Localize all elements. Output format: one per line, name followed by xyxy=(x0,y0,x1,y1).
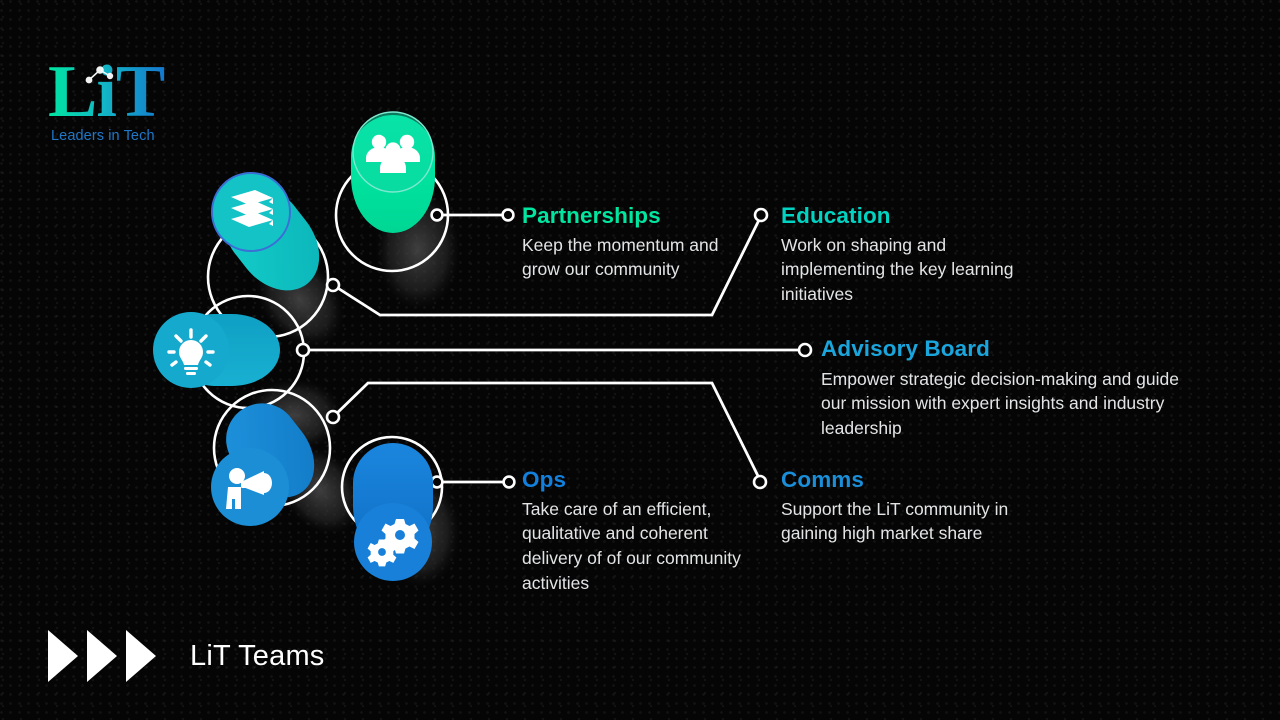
node-comms-desc: Support the LiT community in gaining hig… xyxy=(781,497,1011,546)
node-partnerships-desc: Keep the momentum and grow our community xyxy=(522,233,752,282)
play-arrow-icon-1 xyxy=(48,630,78,682)
node-education-origin xyxy=(327,279,339,291)
node-advisory-title: Advisory Board xyxy=(821,337,1191,362)
node-ops-desc: Take care of an efficient, qualitative a… xyxy=(522,497,772,596)
node-ops-title: Ops xyxy=(522,468,772,493)
pin-ops[interactable] xyxy=(353,443,433,581)
footer: LiT Teams xyxy=(48,630,325,682)
slide-canvas: LiT Leaders in Tech xyxy=(0,0,1280,720)
node-advisory-origin xyxy=(297,344,309,356)
node-partnerships-title: Partnerships xyxy=(522,204,752,229)
node-education-text: Education Work on shaping and implementi… xyxy=(781,204,1021,307)
node-ops-origin xyxy=(432,477,443,488)
node-advisory-text: Advisory Board Empower strategic decisio… xyxy=(821,337,1191,441)
node-education-title: Education xyxy=(781,204,1021,229)
node-advisory-desc: Empower strategic decision-making and gu… xyxy=(821,367,1191,441)
node-partnerships-origin xyxy=(432,210,443,221)
node-partnerships-label xyxy=(503,210,514,221)
play-arrow-icon-2 xyxy=(87,630,117,682)
node-comms-origin xyxy=(327,411,339,423)
node-education-label xyxy=(755,209,767,221)
node-comms-title: Comms xyxy=(781,468,1011,493)
books-stack-icon xyxy=(231,190,273,227)
play-arrow-icon-3 xyxy=(126,630,156,682)
footer-title: LiT Teams xyxy=(190,640,325,673)
node-ops-text: Ops Take care of an efficient, qualitati… xyxy=(522,468,772,595)
pin-partnerships[interactable] xyxy=(351,112,435,233)
pin-advisory[interactable] xyxy=(153,312,280,388)
node-ops-label xyxy=(504,477,515,488)
node-advisory-label xyxy=(799,344,811,356)
node-partnerships-text: Partnerships Keep the momentum and grow … xyxy=(522,204,752,282)
node-comms-text: Comms Support the LiT community in gaini… xyxy=(781,468,1011,546)
node-education-desc: Work on shaping and implementing the key… xyxy=(781,233,1021,307)
